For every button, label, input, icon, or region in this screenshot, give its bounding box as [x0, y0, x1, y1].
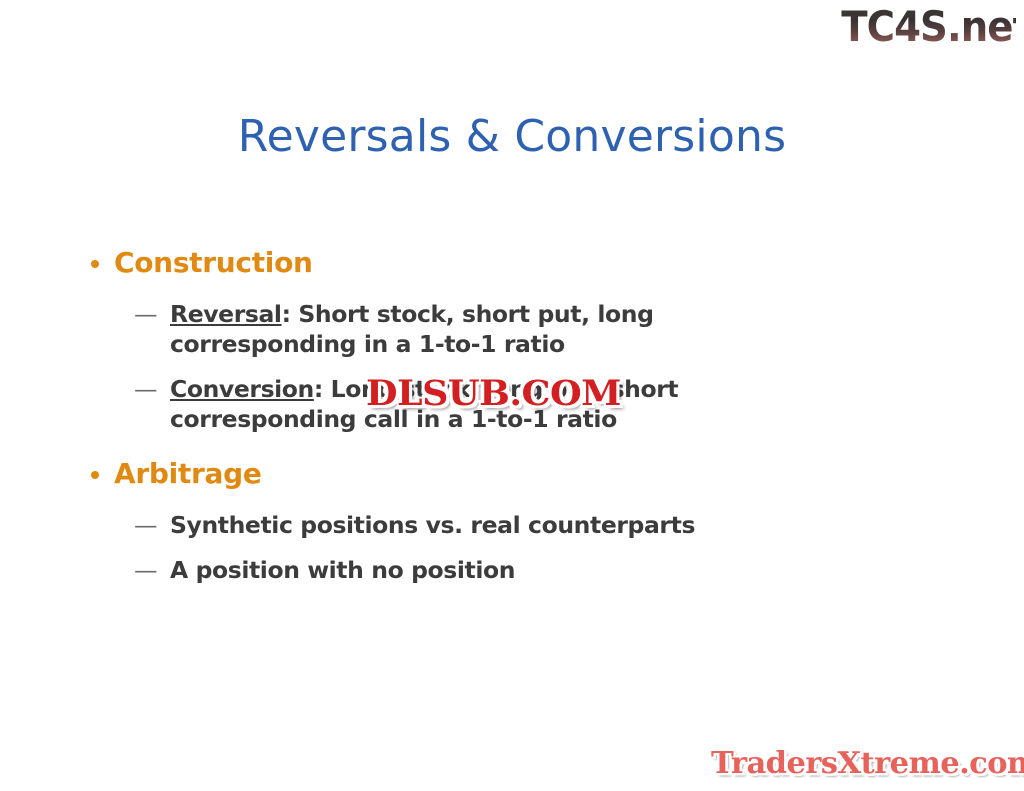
term-reversal: Reversal: [170, 300, 282, 328]
term-separator: :: [282, 300, 299, 328]
bullet-level2-line1: A position with no position: [170, 556, 515, 584]
term-separator: :: [314, 375, 331, 403]
bullet-level1-label: Arbitrage: [114, 457, 262, 490]
slide-body: Construction — Reversal: Short stock, sh…: [78, 244, 938, 591]
slide-title: Reversals & Conversions: [0, 108, 1024, 166]
bullet-level2-line1: Synthetic positions vs. real counterpart…: [170, 511, 695, 539]
bullet-level2-reversal: — Reversal: Short stock, short put, long…: [78, 299, 938, 359]
dlsub-watermark: DLSUB.COM: [366, 374, 621, 414]
em-dash-icon: —: [134, 299, 157, 329]
bullet-dot-icon: [91, 260, 99, 268]
bullet-level1-arbitrage: Arbitrage: [78, 455, 938, 493]
em-dash-icon: —: [134, 510, 157, 540]
em-dash-icon: —: [134, 555, 157, 585]
em-dash-icon: —: [134, 374, 157, 404]
term-conversion: Conversion: [170, 375, 314, 403]
bullet-level1-label: Construction: [114, 246, 313, 279]
bullet-dot-icon: [91, 471, 99, 479]
bullet-level2-no-position: — A position with no position: [78, 555, 938, 585]
presentation-slide: TC4S.net Reversals & Conversions Constru…: [0, 0, 1024, 791]
spacer: [78, 286, 938, 299]
bullet-level1-construction: Construction: [78, 244, 938, 282]
tradersxtreme-brand-logo: TradersXtreme.com: [711, 744, 1024, 784]
bullet-level2-line2: corresponding in a 1-to-1 ratio: [170, 329, 810, 359]
tc4s-brand-logo: TC4S.net: [841, 2, 1016, 54]
bullet-level2-line1: Short stock, short put, long: [298, 300, 653, 328]
spacer: [78, 497, 938, 510]
bullet-level2-synthetic-positions: — Synthetic positions vs. real counterpa…: [78, 510, 938, 540]
spacer: [78, 546, 938, 555]
spacer: [78, 440, 938, 455]
